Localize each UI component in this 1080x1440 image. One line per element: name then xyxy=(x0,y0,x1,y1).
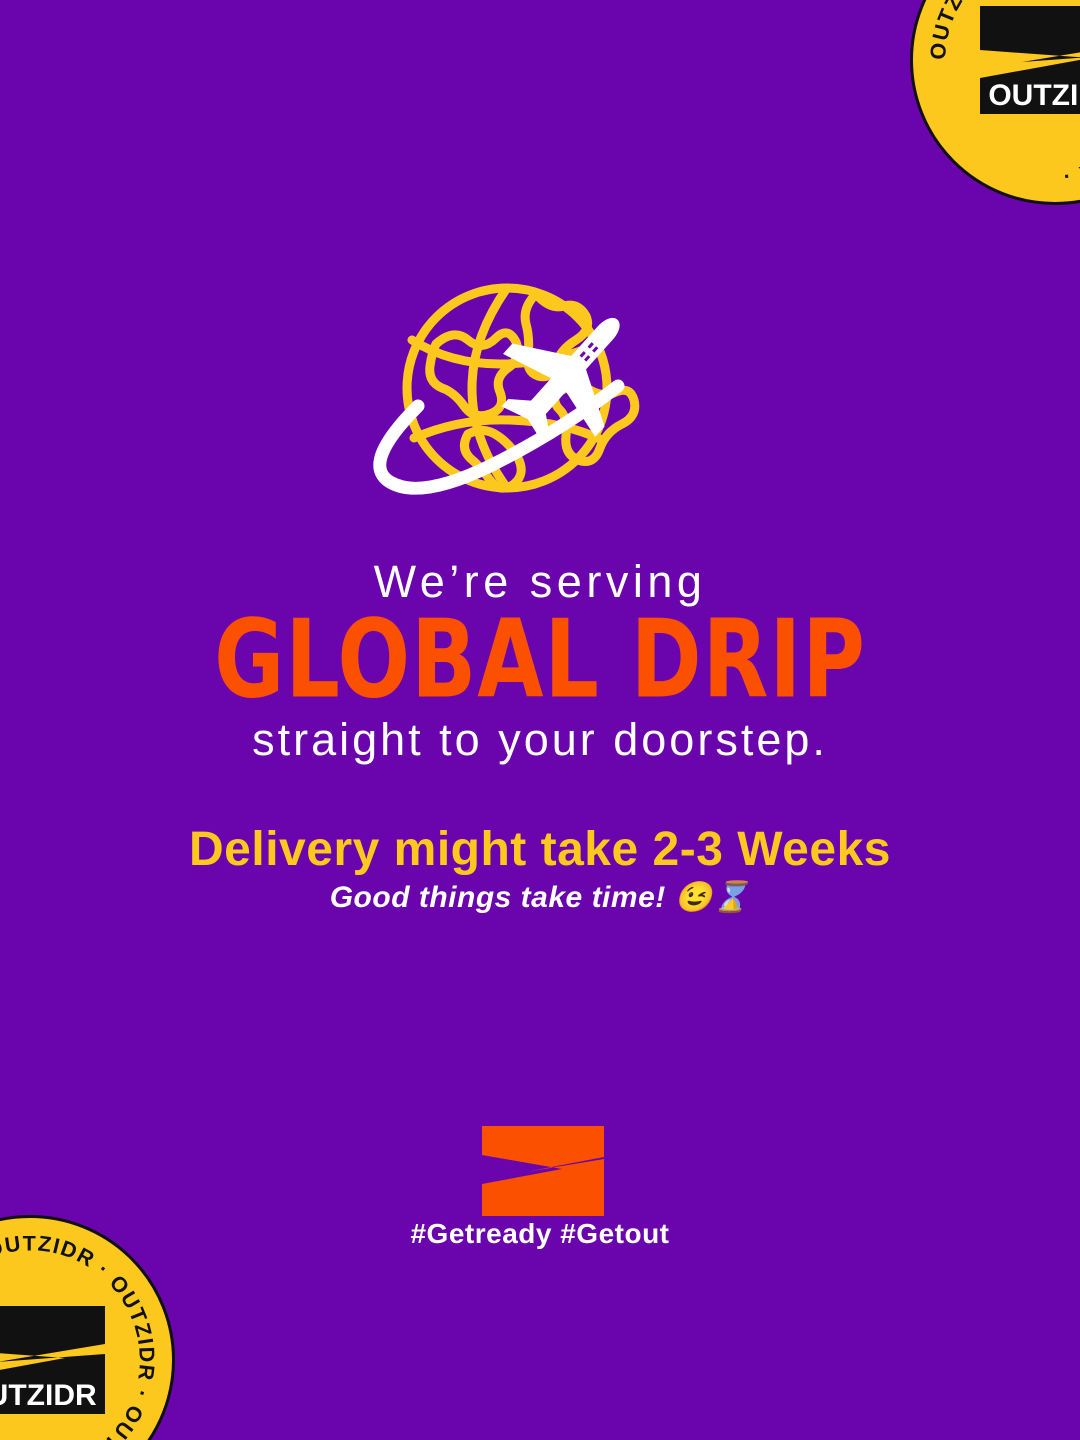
delivery-subnote: Good things take time! 😉⌛ xyxy=(0,880,1080,915)
delivery-notice: Delivery might take 2-3 Weeks xyxy=(0,822,1080,877)
promo-poster: OUTZIDR · OUTZIDR · OUTZIDR · OUTZIDR · … xyxy=(0,0,1080,1440)
outzidr-z-logo xyxy=(478,1124,608,1218)
badge-core-logo-bottom-left: OUTZIDR xyxy=(0,1300,115,1420)
headline-line-2-global-drip: GLOBAL DRIP xyxy=(5,606,1074,714)
globe-with-airplane-icon xyxy=(350,268,730,518)
badge-core-label-bottom-left: OUTZIDR xyxy=(0,1379,97,1412)
headline-line-3: straight to your doorstep. xyxy=(0,714,1080,766)
badge-core-label-top-right: OUTZIDR xyxy=(988,79,1080,112)
brand-badge-bottom-left: OUTZIDR · OUTZIDR · OUTZIDR · OUTZIDR · … xyxy=(0,1215,175,1440)
brand-badge-top-right: OUTZIDR · OUTZIDR · OUTZIDR · OUTZIDR · … xyxy=(910,0,1080,205)
badge-core-logo-top-right: OUTZIDR xyxy=(970,0,1080,120)
